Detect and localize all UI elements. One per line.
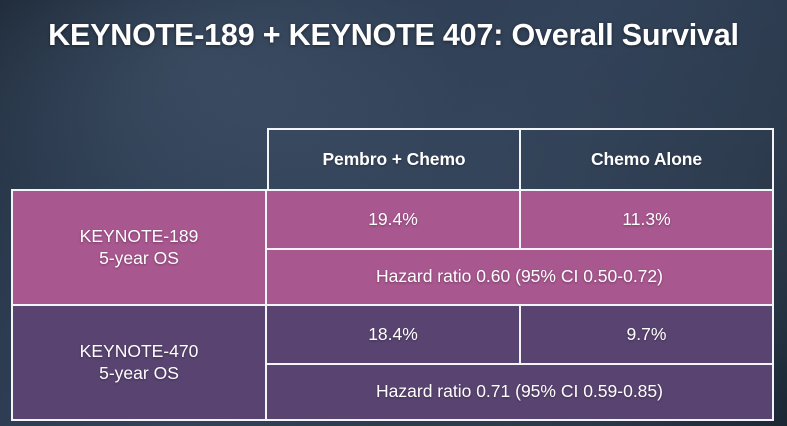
cell-keynote189-chemo-alone: 11.3% bbox=[521, 189, 774, 248]
table-header-row: Pembro + Chemo Chemo Alone bbox=[11, 128, 774, 189]
page-title: KEYNOTE-189 + KEYNOTE 407: Overall Survi… bbox=[0, 18, 787, 53]
column-header-chemo-alone: Chemo Alone bbox=[521, 128, 774, 189]
table-corner-cell bbox=[11, 128, 267, 189]
os-results-table: Pembro + Chemo Chemo Alone KEYNOTE-189 5… bbox=[11, 128, 774, 421]
cell-keynote470-chemo-alone: 9.7% bbox=[521, 304, 774, 363]
cell-keynote189-pembro-chemo: 19.4% bbox=[267, 189, 521, 248]
row-label-keynote-470: KEYNOTE-470 5-year OS bbox=[11, 304, 267, 421]
row-label-line1: KEYNOTE-189 bbox=[13, 226, 265, 247]
row-label-line2: 5-year OS bbox=[13, 363, 265, 384]
row-label-keynote-189: KEYNOTE-189 5-year OS bbox=[11, 189, 267, 304]
cell-keynote470-pembro-chemo: 18.4% bbox=[267, 304, 521, 363]
column-header-pembro-chemo: Pembro + Chemo bbox=[267, 128, 521, 189]
slide-canvas: KEYNOTE-189 + KEYNOTE 407: Overall Survi… bbox=[0, 0, 787, 426]
row-label-line1: KEYNOTE-470 bbox=[13, 341, 265, 362]
cell-keynote189-hazard-ratio: Hazard ratio 0.60 (95% CI 0.50-0.72) bbox=[267, 248, 774, 304]
table-row: KEYNOTE-189 5-year OS 19.4% 11.3% bbox=[11, 189, 774, 248]
os-results-table-container: Pembro + Chemo Chemo Alone KEYNOTE-189 5… bbox=[11, 128, 774, 415]
cell-keynote470-hazard-ratio: Hazard ratio 0.71 (95% CI 0.59-0.85) bbox=[267, 363, 774, 421]
table-row: KEYNOTE-470 5-year OS 18.4% 9.7% bbox=[11, 304, 774, 363]
row-label-line2: 5-year OS bbox=[13, 248, 265, 269]
